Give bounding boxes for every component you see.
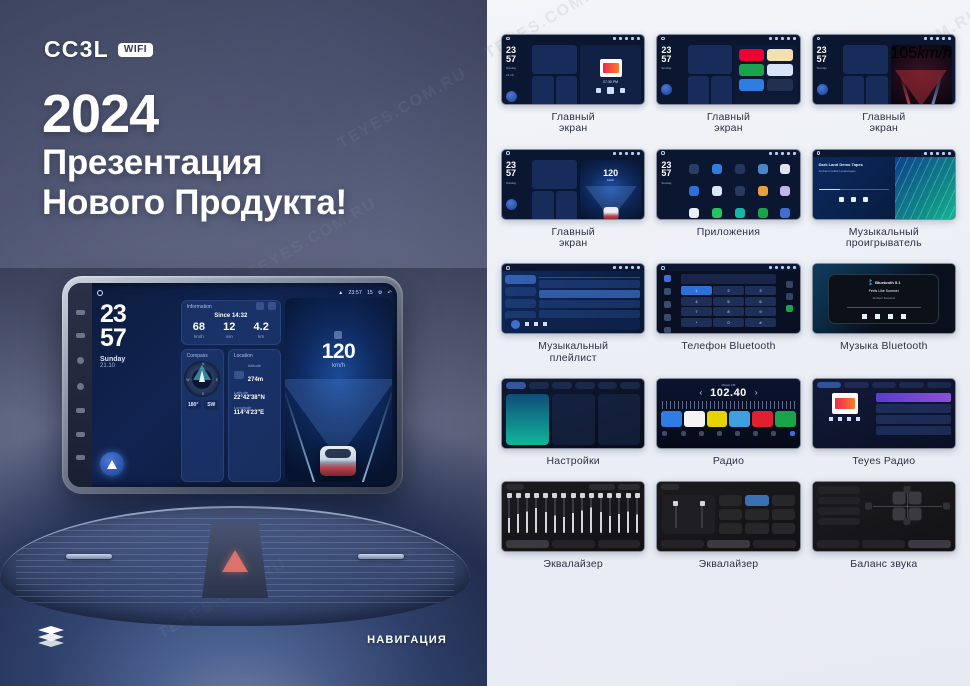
altitude-value: 274m <box>248 377 263 383</box>
gallery-item[interactable]: 1 2 3 4 5 6 7 8 9 * <box>656 263 800 364</box>
watermark: TEYES.COM.RU <box>335 65 470 153</box>
sidebar-item-dialpad[interactable] <box>664 275 671 282</box>
tab-countries[interactable] <box>872 382 896 388</box>
tab-display[interactable] <box>552 382 572 389</box>
clock-icon <box>775 37 778 40</box>
vent-knob-left[interactable] <box>66 554 112 559</box>
compass-card[interactable] <box>688 76 709 105</box>
track-title: Feels Like Summer <box>869 289 899 293</box>
gallery-item[interactable]: Bluetooth 5.1 Feels Like Summer Ambient … <box>812 263 956 364</box>
headline-year: 2024 <box>42 86 347 143</box>
eq-band[interactable] <box>618 493 620 533</box>
trip-stat-value: 68 <box>193 322 205 333</box>
player-controls[interactable] <box>596 87 625 94</box>
tab-search[interactable] <box>899 382 923 388</box>
head-unit-content: ▲ 23:57 15 ⚙ ↶ 23 57 <box>92 283 397 487</box>
eq-band[interactable] <box>581 493 583 533</box>
sidebar-item-contacts[interactable] <box>664 288 671 295</box>
preset-custom[interactable] <box>745 509 768 520</box>
eq-band[interactable] <box>526 493 528 533</box>
preset-6[interactable] <box>775 411 796 427</box>
thumbnail-bluetooth-music[interactable]: Bluetooth 5.1 Feels Like Summer Ambient … <box>812 263 956 334</box>
preset-rock[interactable] <box>772 495 795 506</box>
key-volume-up-icon[interactable] <box>76 455 85 460</box>
information-card[interactable] <box>688 45 732 74</box>
vent-knob-right[interactable] <box>358 554 404 559</box>
arrow-up-icon[interactable] <box>904 486 911 493</box>
eq-band[interactable] <box>600 493 602 533</box>
head-unit-side-keys[interactable] <box>68 283 92 487</box>
player-controls[interactable] <box>819 197 890 202</box>
app-icon-gallery[interactable] <box>780 186 790 196</box>
speed-readout: 120 km/h <box>285 331 392 369</box>
eq-band[interactable] <box>517 493 519 533</box>
media-player-widget[interactable]: 07:30 PM <box>580 45 641 105</box>
thumbnail-equalizer-bands[interactable] <box>501 481 645 552</box>
information-card[interactable] <box>843 45 887 74</box>
wifi-icon <box>769 152 772 155</box>
settings-cards[interactable] <box>502 392 644 447</box>
settings-tabs[interactable] <box>502 379 644 392</box>
mini-clock-minutes: 57 <box>817 55 841 64</box>
eq-icon[interactable] <box>717 431 722 436</box>
thumbnail-home-screen-apps[interactable]: 23 57 Sunday <box>656 34 800 105</box>
back-icon <box>948 37 951 40</box>
app-icon-contacts[interactable] <box>712 186 722 196</box>
tab-balance[interactable] <box>908 540 951 548</box>
balance-tabs[interactable] <box>817 540 951 548</box>
app-grid[interactable] <box>680 157 800 220</box>
radio-toolbar[interactable] <box>657 429 799 438</box>
information-actions[interactable] <box>256 302 280 310</box>
tab-eq[interactable] <box>817 540 860 548</box>
app-icon-contacts[interactable] <box>767 49 792 61</box>
key-home-icon[interactable] <box>77 383 84 390</box>
app-icon-chrome[interactable] <box>689 186 699 196</box>
settings-icon[interactable] <box>771 431 776 436</box>
next-station-icon[interactable]: › <box>755 388 758 397</box>
eq-band[interactable] <box>563 493 565 533</box>
back-icon <box>793 152 796 155</box>
mini-clock-day: Sunday <box>661 66 685 70</box>
gallery-item[interactable]: Эквалайзер <box>656 481 800 570</box>
thumbnail-home-screen-drive[interactable]: 23 57 Sunday 120km/h <box>501 149 645 220</box>
app-icon-maps[interactable] <box>712 208 722 218</box>
preset-rear[interactable] <box>818 507 860 515</box>
dialpad-key[interactable]: 9 <box>745 307 775 316</box>
dialpad-key[interactable]: 7 <box>681 307 711 316</box>
arrow-right-icon[interactable] <box>943 502 950 509</box>
app-icon-google[interactable] <box>689 208 699 218</box>
gear-icon[interactable]: ⚙ <box>378 290 383 296</box>
gear-icon <box>787 152 790 155</box>
sidebar-item-call-log[interactable] <box>664 314 671 321</box>
product-logo: CC3L WIFI <box>44 36 153 63</box>
gallery-item[interactable]: Музыкальный плейлист <box>501 263 645 364</box>
track-row[interactable] <box>539 280 640 288</box>
location-card[interactable] <box>711 76 732 105</box>
preset-4[interactable] <box>729 411 750 427</box>
dialpad-key[interactable]: # <box>745 318 775 327</box>
eq-band[interactable] <box>636 493 638 533</box>
reset-button[interactable] <box>618 484 640 490</box>
dialer-actions[interactable] <box>780 271 800 333</box>
radio-readout: Радио FM ‹ 102.40 › <box>657 379 799 399</box>
card-wifi[interactable] <box>506 394 549 445</box>
back-icon[interactable]: ↶ <box>388 290 392 296</box>
key-mute-icon[interactable] <box>76 310 85 315</box>
dialer[interactable]: 1 2 3 4 5 6 7 8 9 * <box>677 271 779 333</box>
app-icon-radio[interactable] <box>780 208 790 218</box>
app-icon-play-store[interactable] <box>758 208 768 218</box>
thumbnail-home-screen-drive-red[interactable]: 23 57 Sunday 105 <box>812 34 956 105</box>
key-volume-down-icon[interactable] <box>76 432 85 437</box>
drive-panel[interactable]: 120km/h <box>580 160 641 220</box>
tab-presets[interactable] <box>707 540 750 548</box>
gallery-grid: 23 57 Sunday 21.10 07:30 PM <box>501 34 956 571</box>
station-row[interactable] <box>876 404 951 413</box>
frequency-scale[interactable] <box>662 401 794 409</box>
gallery-item[interactable]: 23 57 Sunday <box>656 34 800 135</box>
home-icon[interactable] <box>97 290 103 296</box>
location-card[interactable] <box>556 76 577 105</box>
tab-favorites[interactable] <box>927 382 951 388</box>
app-icon-bluetooth[interactable] <box>712 164 722 174</box>
progress-bar[interactable] <box>847 307 921 308</box>
sidebar-item-settings[interactable] <box>664 327 671 334</box>
preset-jazz[interactable] <box>719 509 742 520</box>
gallery-caption: Настройки <box>547 456 600 467</box>
preset-selector[interactable] <box>589 484 615 490</box>
gallery-item[interactable]: 23 57 Sunday 21.10 07:30 PM <box>501 34 645 135</box>
seat-layout <box>893 491 922 520</box>
compass-card[interactable] <box>532 76 553 105</box>
tab-sound[interactable] <box>598 540 641 548</box>
station-row[interactable] <box>876 393 951 402</box>
back-icon <box>793 37 796 40</box>
app-icon-file-manager[interactable] <box>758 186 768 196</box>
trip-stat: 12min <box>223 322 235 339</box>
station-row[interactable] <box>876 426 951 435</box>
preset-grid[interactable] <box>719 495 794 534</box>
dialpad[interactable]: 1 2 3 4 5 6 7 8 9 * <box>681 286 775 327</box>
mini-player-bar[interactable] <box>506 318 640 330</box>
tab-balance[interactable] <box>552 540 595 548</box>
app-icon-play-store[interactable] <box>739 79 764 91</box>
gear-icon <box>942 37 945 40</box>
mini-status-bar <box>813 150 955 157</box>
tab-sound[interactable] <box>529 382 549 389</box>
favorite-icon[interactable] <box>786 281 793 288</box>
key-mode-icon[interactable] <box>76 333 85 338</box>
preset-2[interactable] <box>684 411 705 427</box>
band-button[interactable] <box>662 431 667 436</box>
dialpad-key[interactable]: 1 <box>681 286 711 295</box>
mini-lower-widgets <box>843 76 887 105</box>
eq-band[interactable] <box>545 493 547 533</box>
preset-driver[interactable] <box>818 486 860 494</box>
call-icon[interactable] <box>786 305 793 312</box>
mini-lower-widgets <box>532 191 576 220</box>
mini-clock-minutes: 57 <box>506 169 530 178</box>
tab-presets[interactable] <box>862 540 905 548</box>
equalizer-screen <box>502 482 644 551</box>
information-card[interactable] <box>532 160 576 189</box>
navigation-button[interactable] <box>661 84 672 95</box>
dialpad-key[interactable]: 4 <box>681 297 711 306</box>
gallery-caption: Баланс звука <box>850 559 917 570</box>
preset-pop[interactable] <box>719 495 742 506</box>
compass-card[interactable]: Compass N E S W <box>181 349 224 482</box>
preset-5[interactable] <box>752 411 773 427</box>
longitude-value: 114°4'23"E <box>234 410 275 416</box>
app-icon-all-apps[interactable] <box>767 79 792 91</box>
player-controls[interactable] <box>829 417 860 421</box>
information-card[interactable] <box>532 45 576 74</box>
thumbnail-applications[interactable]: 23 57 Sunday <box>656 149 800 220</box>
station-list[interactable] <box>876 393 951 436</box>
mini-lower-widgets <box>532 76 576 105</box>
eq-band[interactable] <box>535 493 537 533</box>
fader-group[interactable] <box>662 495 715 534</box>
fader-bass[interactable] <box>675 501 677 528</box>
compass-e: E <box>216 378 218 382</box>
dashboard-vents <box>0 506 470 626</box>
eq-band[interactable] <box>609 493 611 533</box>
bluetooth-icon <box>867 279 872 286</box>
gallery-item[interactable]: Teyes Радио <box>812 378 956 467</box>
dialpad-key[interactable]: 3 <box>745 286 775 295</box>
app-icon-camera[interactable] <box>780 164 790 174</box>
eq-band[interactable] <box>554 493 556 533</box>
head-unit-screen[interactable]: ▲ 23:57 15 ⚙ ↶ 23 57 <box>68 283 397 487</box>
app-icon-equalizer[interactable] <box>735 186 745 196</box>
preset-front[interactable] <box>818 497 860 505</box>
dialpad-key[interactable]: 6 <box>745 297 775 306</box>
app-icon-avin[interactable] <box>689 164 699 174</box>
compass-needle <box>199 370 205 382</box>
playlist-tabs[interactable] <box>539 275 640 278</box>
app-icon-calculator[interactable] <box>758 164 768 174</box>
mini-clock-day: Sunday <box>817 66 841 70</box>
tab-eq[interactable] <box>506 540 549 548</box>
trip-stat: 68km/h <box>193 322 205 339</box>
scan-icon[interactable] <box>681 431 686 436</box>
eq-band[interactable] <box>590 493 592 533</box>
home-widgets: 23 57 Sunday 21.10 Information <box>97 298 392 482</box>
trip-stat-value: 12 <box>223 322 235 333</box>
wifi-icon <box>769 37 772 40</box>
hazard-button[interactable] <box>202 524 268 598</box>
progress-bar[interactable] <box>819 189 890 191</box>
arrow-left-icon[interactable] <box>865 502 872 509</box>
gallery-item[interactable]: 23 57 Sunday 120km/h <box>501 149 645 250</box>
mini-clock-date: 21.10 <box>506 73 530 77</box>
navigation-button[interactable] <box>506 91 517 102</box>
thumbnail-bluetooth-phone[interactable]: 1 2 3 4 5 6 7 8 9 * <box>656 263 800 334</box>
compass-card[interactable] <box>843 76 864 105</box>
tab-eq[interactable] <box>661 540 704 548</box>
layers-icon <box>38 626 64 648</box>
dialpad-key[interactable]: 8 <box>713 307 744 316</box>
track-row[interactable] <box>539 290 640 298</box>
location-card[interactable] <box>556 191 577 220</box>
app-icon-spotify[interactable] <box>739 64 764 76</box>
volume-level: 15 <box>367 290 373 296</box>
preset-flat[interactable] <box>745 523 768 534</box>
dialpad-key[interactable]: * <box>681 318 711 327</box>
compass-card[interactable] <box>532 191 553 220</box>
player-controls[interactable] <box>862 314 906 319</box>
loc-icon[interactable] <box>735 431 740 436</box>
arrow-down-icon[interactable] <box>904 518 911 525</box>
equalizer-tabs[interactable] <box>661 540 795 548</box>
station-row[interactable] <box>876 415 951 424</box>
location-card[interactable]: Location Altitude 274m <box>228 349 281 482</box>
equalizer-tabs[interactable] <box>506 540 640 548</box>
bt-player-card[interactable]: Bluetooth 5.1 Feels Like Summer Ambient … <box>828 274 939 324</box>
information-card[interactable]: Information Since 14:32 68km/h <box>181 300 281 345</box>
track-row[interactable] <box>539 310 640 318</box>
equalizer-header[interactable] <box>502 482 644 491</box>
stop-icon <box>838 417 842 421</box>
presentation-slide: TEYES.COM.RU TEYES.COM.RU TEYES.COM.RU C… <box>0 0 970 686</box>
settings-screen <box>502 379 644 448</box>
sidebar-item-search[interactable] <box>664 301 671 308</box>
mini-status-bar <box>502 150 644 157</box>
tab-wlan[interactable] <box>506 382 526 389</box>
phone-sidebar[interactable] <box>657 271 677 333</box>
tab-factory[interactable] <box>598 382 618 389</box>
thumbnail-sound-balance[interactable] <box>812 481 956 552</box>
tab-system[interactable] <box>620 382 640 389</box>
now-playing <box>817 393 873 436</box>
thumbnail-music-playlist[interactable] <box>501 263 645 334</box>
clock-date: 21.10 <box>100 363 177 369</box>
eq-band[interactable] <box>627 493 629 533</box>
playlist-screen <box>502 271 644 333</box>
balance-pad[interactable] <box>865 486 950 525</box>
app-item <box>735 208 745 218</box>
speed-unit: km/h <box>580 178 641 182</box>
eq-band[interactable] <box>508 493 510 533</box>
drive-panel[interactable]: 120 km/h <box>285 298 392 482</box>
key-power-icon[interactable] <box>77 357 84 364</box>
dialpad-key[interactable]: 5 <box>713 297 744 306</box>
eq-bands[interactable] <box>502 491 644 535</box>
sidebar-item-favorites[interactable] <box>505 299 536 308</box>
mini-clock-day: Sunday <box>506 66 530 70</box>
gallery-item[interactable]: Dark Land Demo Tapes Ambient Guitar Land… <box>812 149 956 250</box>
sidebar-item-all[interactable] <box>505 287 536 296</box>
balance-presets[interactable] <box>818 486 860 525</box>
home-layout: 23 57 Sunday <box>657 42 799 105</box>
sidebar-item-tracks[interactable] <box>505 275 536 284</box>
key-back-icon[interactable] <box>76 408 85 413</box>
mini-info-column <box>530 157 578 220</box>
thumbnail-teyes-radio[interactable] <box>812 378 956 449</box>
head-unit-bezel: ▲ 23:57 15 ⚙ ↶ 23 57 <box>62 276 403 494</box>
compass-title: Compass <box>182 350 223 359</box>
navigation-button[interactable] <box>817 84 828 95</box>
thumbnail-equalizer-presets[interactable] <box>656 481 800 552</box>
preset-dance[interactable] <box>772 523 795 534</box>
preset-vocal[interactable] <box>772 509 795 520</box>
volume-icon <box>625 37 628 40</box>
dialpad-key[interactable]: 2 <box>713 286 744 295</box>
tab-home[interactable] <box>817 382 841 388</box>
gallery-item[interactable]: Радио FM ‹ 102.40 › <box>656 378 800 467</box>
expand-icon[interactable] <box>268 302 276 310</box>
thumbnail-radio[interactable]: Радио FM ‹ 102.40 › <box>656 378 800 449</box>
thumbnail-home-screen-media[interactable]: 23 57 Sunday 21.10 07:30 PM <box>501 34 645 105</box>
power-icon[interactable] <box>790 431 795 436</box>
preset-classic[interactable] <box>745 495 768 506</box>
gallery-item[interactable]: 23 57 Sunday <box>656 149 800 250</box>
app-item <box>758 164 768 174</box>
next-icon <box>901 314 906 319</box>
prev-station-icon[interactable]: ‹ <box>699 388 702 397</box>
mini-status-bar <box>657 35 799 42</box>
navigation-button[interactable] <box>100 452 124 476</box>
preset-all[interactable] <box>818 518 860 526</box>
app-icon-music-player[interactable] <box>735 208 745 218</box>
gallery-item[interactable]: Настройки <box>501 378 645 467</box>
track-row[interactable] <box>539 300 640 308</box>
location-card[interactable] <box>866 76 887 105</box>
card-carplay[interactable] <box>552 394 595 445</box>
teyes-radio-tabs[interactable] <box>813 379 955 391</box>
thumbnail-music-player[interactable]: Dark Land Demo Tapes Ambient Guitar Land… <box>812 149 956 220</box>
tab-genres[interactable] <box>844 382 868 388</box>
backspace-icon[interactable] <box>786 293 793 300</box>
wifi-icon: ▲ <box>338 290 343 296</box>
tab-general[interactable] <box>575 382 595 389</box>
dialpad-key[interactable]: 0 <box>713 318 744 327</box>
app-icon-bluetooth-music[interactable] <box>735 164 745 174</box>
tab-sound[interactable] <box>753 540 796 548</box>
fader-treble[interactable] <box>701 501 703 528</box>
station-presets[interactable] <box>657 409 799 429</box>
navigation-button[interactable] <box>506 199 517 210</box>
gallery-item[interactable]: Эквалайзер <box>501 481 645 570</box>
radio-screen: Радио FM ‹ 102.40 › <box>657 379 799 448</box>
list-icon[interactable] <box>699 431 704 436</box>
app-icon-maps[interactable] <box>767 64 792 76</box>
app-shortcuts-panel[interactable] <box>735 45 796 105</box>
gear-icon <box>631 266 634 269</box>
app-icon-youtube[interactable] <box>739 49 764 61</box>
card-more[interactable] <box>598 394 641 445</box>
app-item <box>780 164 790 174</box>
clock-day: Sunday <box>100 356 177 363</box>
drive-panel[interactable]: 105km/h <box>891 45 952 105</box>
trip-stat: 4.2km <box>254 322 269 339</box>
gallery-item[interactable]: 23 57 Sunday 105 <box>812 34 956 135</box>
eq-band[interactable] <box>572 493 574 533</box>
preset-1[interactable] <box>661 411 682 427</box>
home-icon <box>506 266 510 270</box>
preset-3[interactable] <box>707 411 728 427</box>
st-icon[interactable] <box>753 431 758 436</box>
preset-bass[interactable] <box>719 523 742 534</box>
gallery-item[interactable]: Баланс звука <box>812 481 956 570</box>
equalizer-header[interactable] <box>657 482 799 491</box>
thumbnail-settings[interactable] <box>501 378 645 449</box>
gear-icon <box>787 37 790 40</box>
refresh-icon[interactable] <box>256 302 264 310</box>
location-altitude: Altitude 274m <box>234 363 275 386</box>
